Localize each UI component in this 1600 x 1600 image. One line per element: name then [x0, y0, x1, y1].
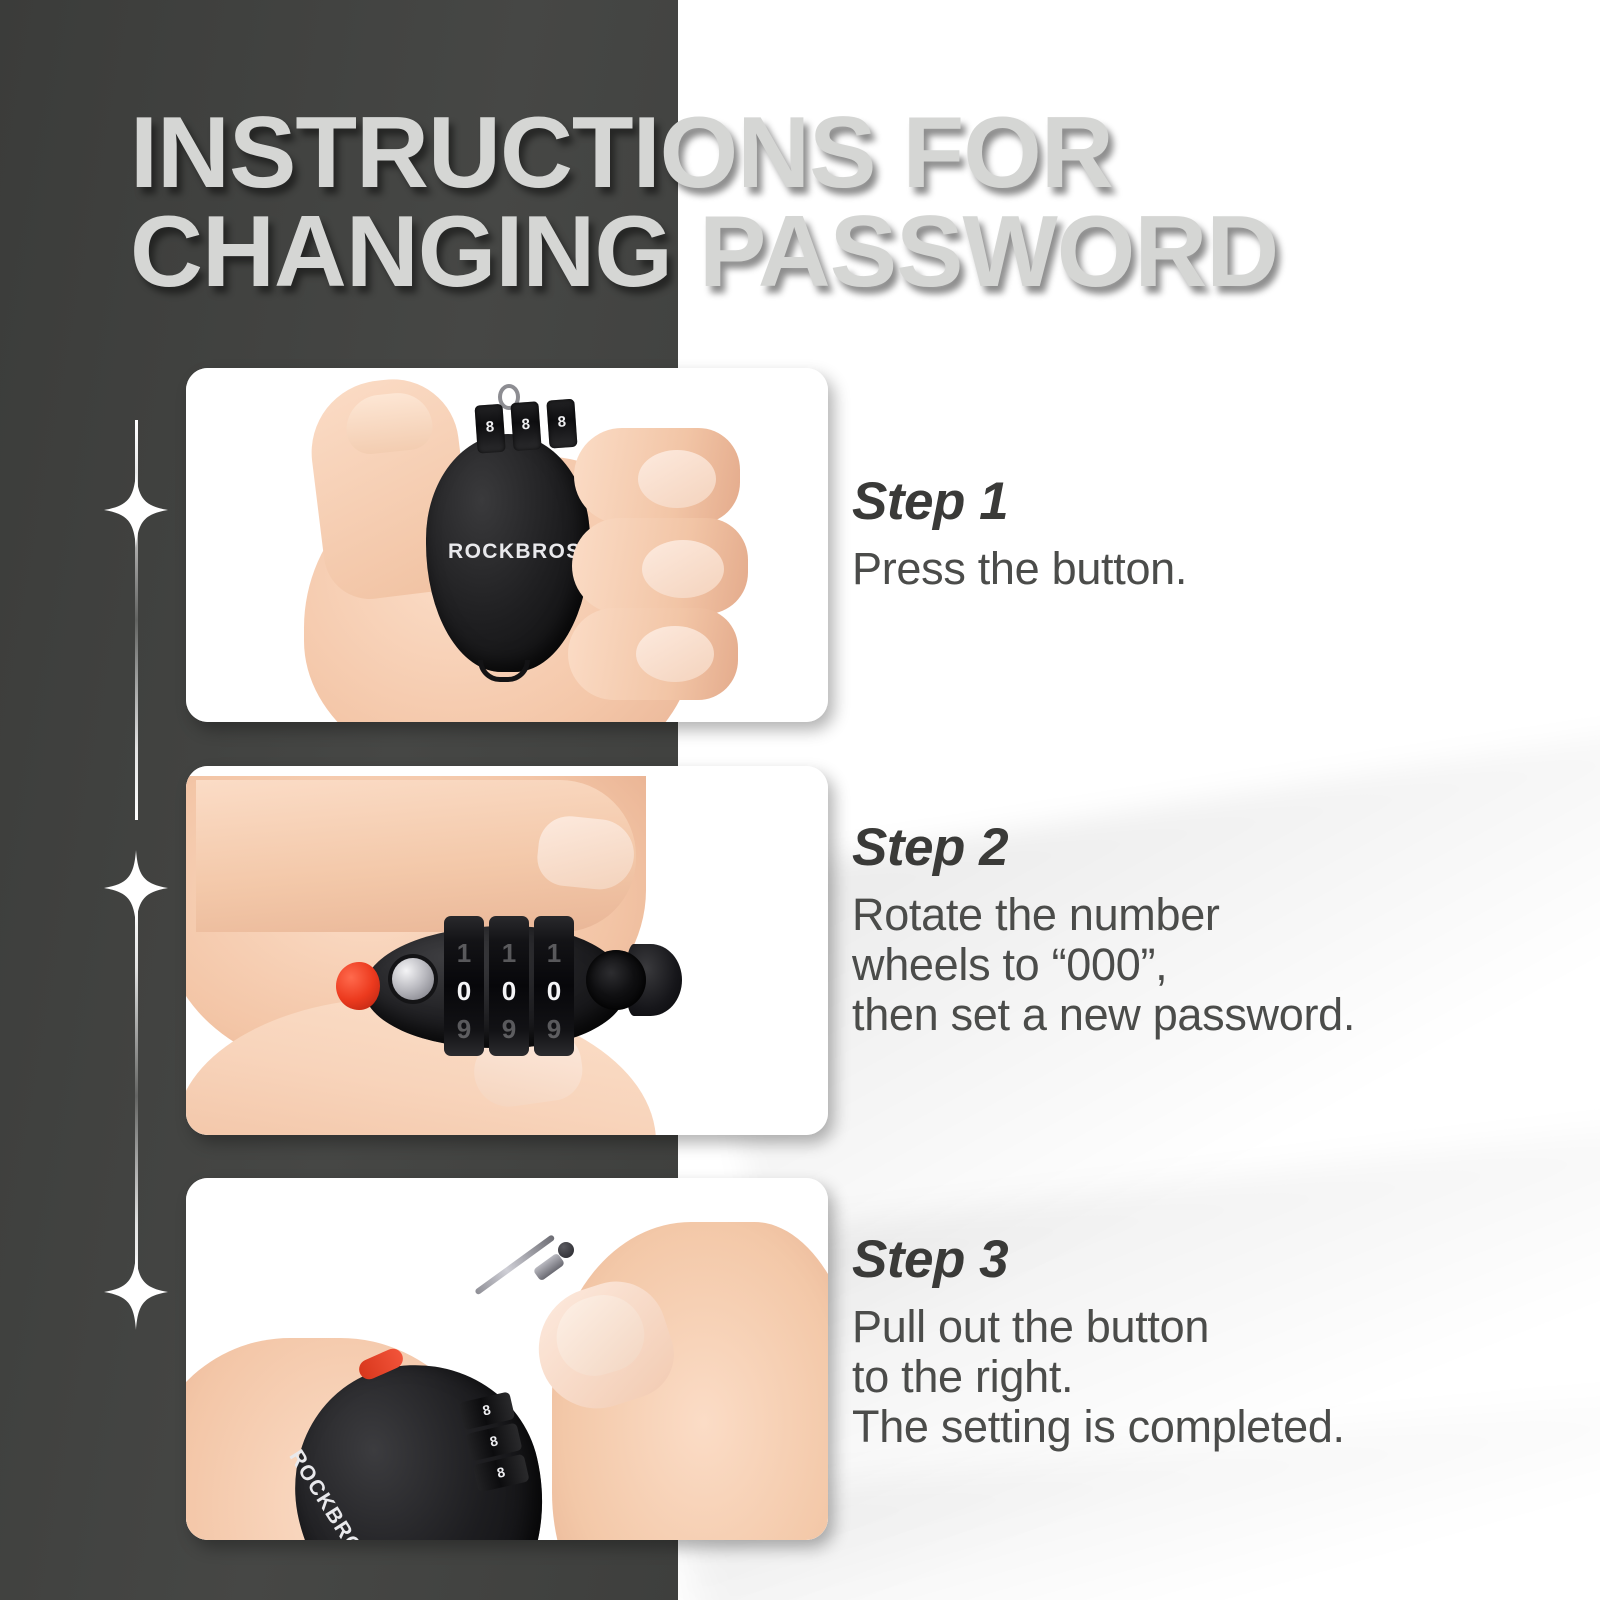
- step-photo-card-3: ROCKBROS 8 8 8: [186, 1178, 828, 1540]
- cable-pin: [533, 1253, 565, 1282]
- sparkle-icon-1: [104, 472, 168, 548]
- step-photo-card-1: ROCKBROS 8 8 8: [186, 368, 828, 722]
- number-dials-group: 8 8 8: [474, 398, 581, 453]
- number-wheel: 109: [444, 916, 484, 1056]
- finger-nail: [636, 626, 714, 682]
- page-title: INSTRUCTIONS FOR CHANGING PASSWORD: [130, 104, 1490, 302]
- number-dial: 8: [546, 399, 577, 449]
- brand-logo-text: ROCKBROS: [448, 540, 582, 564]
- dial-digit: 8: [547, 413, 576, 432]
- wheel-digit: 0: [489, 976, 529, 1007]
- step-label: Step 1: [852, 474, 1187, 530]
- step-text-1: Step 1 Press the button.: [852, 474, 1187, 594]
- number-dial: 8: [474, 404, 505, 454]
- number-wheels-group: 109 109 109: [444, 916, 574, 1056]
- step-description: Press the button.: [852, 544, 1187, 594]
- step-photo-card-2: 109 109 109: [186, 766, 828, 1135]
- finger-nail: [638, 450, 716, 508]
- step-text-3: Step 3 Pull out the button to the right.…: [852, 1232, 1345, 1453]
- number-wheel: 109: [534, 916, 574, 1056]
- dial-digit: 8: [474, 1459, 528, 1486]
- photo-press-the-button: ROCKBROS 8 8 8: [186, 368, 828, 722]
- step-text-2: Step 2 Rotate the number wheels to “000”…: [852, 820, 1355, 1041]
- wheel-digit: 0: [534, 976, 574, 1007]
- step-label: Step 2: [852, 820, 1355, 876]
- finger-nail: [642, 540, 724, 598]
- sparkle-rail: [104, 360, 168, 1550]
- number-wheel: 109: [489, 916, 529, 1056]
- cable-pin-head: [558, 1242, 574, 1258]
- number-dial: 8: [510, 401, 541, 451]
- red-release-button: [336, 962, 380, 1010]
- metal-rivet: [392, 958, 434, 1000]
- dial-digit: 8: [459, 1396, 513, 1423]
- dial-digit: 8: [467, 1427, 521, 1454]
- dial-digit: 8: [475, 418, 504, 437]
- cable-port: [586, 950, 646, 1010]
- dial-digit: 8: [511, 415, 540, 434]
- photo-rotate-number-wheels: 109 109 109: [186, 766, 828, 1135]
- infographic-page: INSTRUCTIONS FOR CHANGING PASSWORD ROCKB…: [0, 0, 1600, 1600]
- rail-line-2: [135, 896, 138, 1296]
- wheel-digit: 0: [444, 976, 484, 1007]
- step-description: Rotate the number wheels to “000”, then …: [852, 890, 1355, 1041]
- sparkle-icon-3: [104, 1254, 168, 1330]
- step-description: Pull out the button to the right. The se…: [852, 1302, 1345, 1453]
- step-label: Step 3: [852, 1232, 1345, 1288]
- photo-pull-out-the-button: ROCKBROS 8 8 8: [186, 1178, 828, 1540]
- sparkle-icon-2: [104, 850, 168, 926]
